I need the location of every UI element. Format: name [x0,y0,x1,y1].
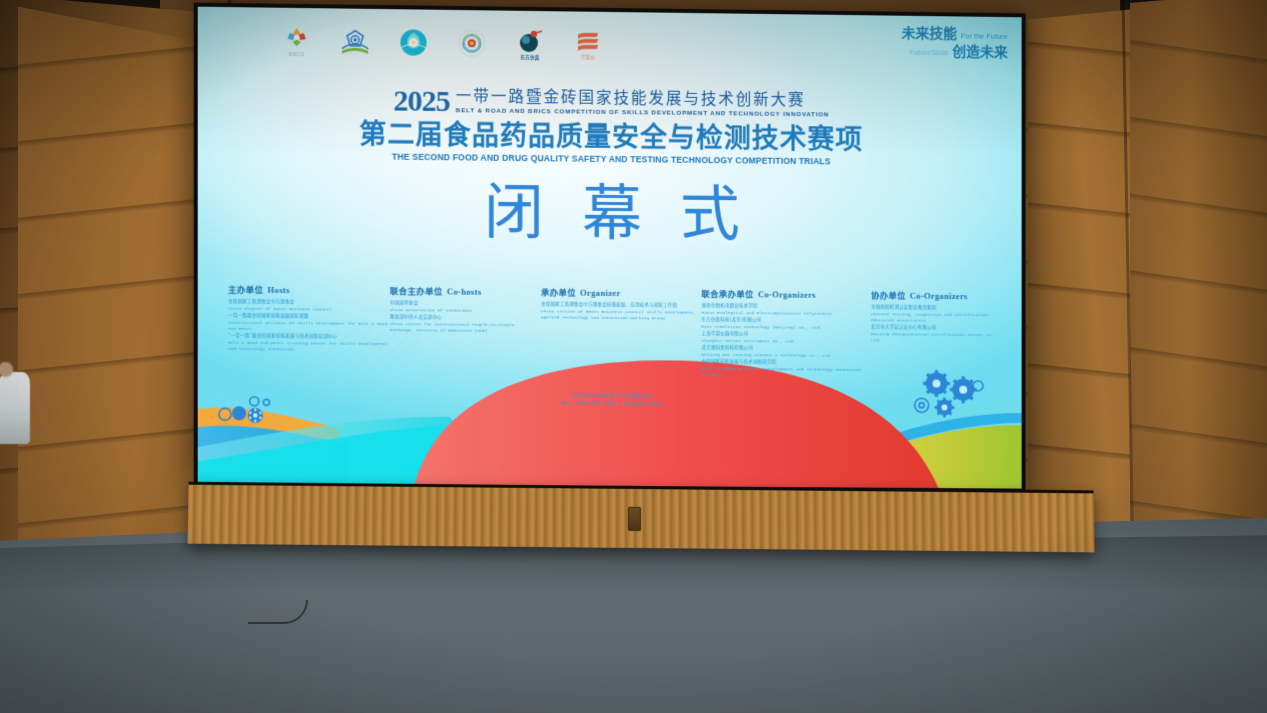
east-simulation-logo: 东方仿真 [510,21,550,68]
led-screen-bezel: BRICS [194,3,1026,493]
organizer-heading: 主办单位 Hosts [228,284,389,298]
organizer-columns: 主办单位 Hosts 金砖国家工商理事会中方理事会 China Chapter … [228,284,1000,383]
organizer-entry-en: Beijing ZhongDaHuaYuan Certification Cen… [871,332,1000,346]
organizer-entry: 金砖国家技能发展与技术创新研究院 BRICS Academy of Skills… [701,360,870,381]
organizer-column-cohosts: 联合主办单位 Co-hosts 中国发明协会 China Association… [390,285,541,337]
huapu-caption: 华谱仪 [581,54,595,60]
slogan-cn-line2: 创造未来 [952,44,1007,61]
organizer-heading: 联合主办单位 Co-hosts [390,285,541,298]
organizer-entry-en: China Center for International People-to… [390,322,541,336]
sponsor-logo-strip: BRICS [277,18,608,68]
person-standing [0,372,30,444]
organizer-entry: 金砖国家工商理事会中方理事会技能发展、应用技术与创新工作组 China Sect… [541,302,701,323]
organizer-entry: 东方仿真科技(北京)有限公司 East Simulation Technolog… [701,318,870,332]
east-simulation-caption: 东方仿真 [520,54,539,60]
organizer-heading-en: Hosts [268,285,290,295]
brics-logo-caption: BRICS [289,52,304,57]
organizer-entry-en: China Section of BRICS Business Council … [541,309,701,323]
organizer-heading: 联合承办单位 Co-Organizers [701,288,870,301]
organizer-heading-en: Organizer [580,288,620,298]
organizer-entry: 中国发明协会 China Association of Inventions [390,301,541,315]
organizer-entry: 北京奥科思科技有限公司 Beijing AMC Sensing Science … [701,346,870,360]
slogan-cn-line1: 未来技能 [902,26,958,43]
ceremony-title: 闭幕式 [198,180,1022,248]
belt-road-alliance-logo [335,18,375,65]
stage-front-panel [188,482,1095,553]
organizer-heading-en: Co-hosts [447,287,482,297]
organizer-entry-en: China Association of Inventions [390,308,541,316]
organizer-entry: 湖南生物机电职业技术学院 Hunan Biological and Electr… [701,304,870,318]
organizer-heading-cn: 联合主办单位 [390,285,443,298]
organizer-entry: 上海华谱仪器有限公司 Shanghai HuPuDe Instrument Co… [701,332,870,346]
organizer-heading-en: Co-Organizers [758,289,816,299]
organizer-entry-en: Belt & Road and BRICS Training Center fo… [228,341,389,355]
slogan-en-line1: For the Future [961,34,1008,44]
organizer-heading-cn: 协办单位 [871,289,906,301]
organizer-heading-cn: 联合承办单位 [701,288,753,300]
led-screen-display: BRICS [198,7,1022,489]
organizer-column-supporters: 协办单位 Co-Organizers 全国检验检测认证职业教育集团 Chines… [871,289,1000,347]
organizer-entry: “一带一路”暨金砖国家技能发展与技术创新培训中心 Belt & Road and… [228,334,389,355]
organizer-entry: 教育部中外人文交流中心 China Center for Internation… [390,315,541,336]
organizer-column-organizer: 承办单位 Organizer 金砖国家工商理事会中方理事会技能发展、应用技术与创… [541,286,701,324]
organizer-entry-en: BRICS Academy of Skills Development and … [701,366,870,380]
organizer-heading-cn: 主办单位 [228,284,263,296]
organizer-column-hosts: 主办单位 Hosts 金砖国家工商理事会中方理事会 China Chapter … [228,284,389,357]
organizer-entry: 金砖国家工商理事会中方理事会 China Chapter of BRICS Bu… [228,300,389,315]
organizer-heading-en: Co-Organizers [910,291,968,301]
headline-year: 2025 [393,87,449,115]
event-headline: 2025 一带一路暨金砖国家技能发展与技术创新大赛 BELT & ROAD AN… [198,85,1022,168]
brics-skills-logo: BRICS [277,18,317,65]
moe-exchange-center-logo [452,20,492,67]
huapu-instrument-logo: 华谱仪 [568,21,608,68]
china-invention-association-logo [393,19,433,66]
organizer-heading: 承办单位 Organizer [541,286,701,299]
conference-hall-scene: BRICS [0,0,1267,713]
organizer-entry-en: Chinese Testing, Inspection and Certific… [871,312,1000,326]
organizer-entry-en: International Alliance of Skills Develop… [228,320,389,334]
organizer-heading: 协办单位 Co-Organizers [871,289,1000,302]
headline-cn-line1: 一带一路暨金砖国家技能发展与技术创新大赛 [456,89,829,109]
slogan-en-line2: FutureSkills [910,49,949,60]
organizer-heading-cn: 承办单位 [541,286,576,298]
futureskills-slogan: 未来技能 For the Future FutureSkills 创造未来 [902,26,1008,61]
organizer-entry: 北京中大华远认证中心有限公司 Beijing ZhongDaHuaYuan Ce… [871,326,1000,346]
organizer-entry: 一带一路暨金砖国家技能发展国际联盟 International Alliance… [228,314,389,335]
person-head [0,362,13,377]
organizer-column-coorganizers: 联合承办单位 Co-Organizers 湖南生物机电职业技术学院 Hunan … [701,288,870,382]
stage-outlet-panel [628,507,641,531]
organizer-entry: 全国检验检测认证职业教育集团 Chinese Testing, Inspecti… [871,305,1000,325]
